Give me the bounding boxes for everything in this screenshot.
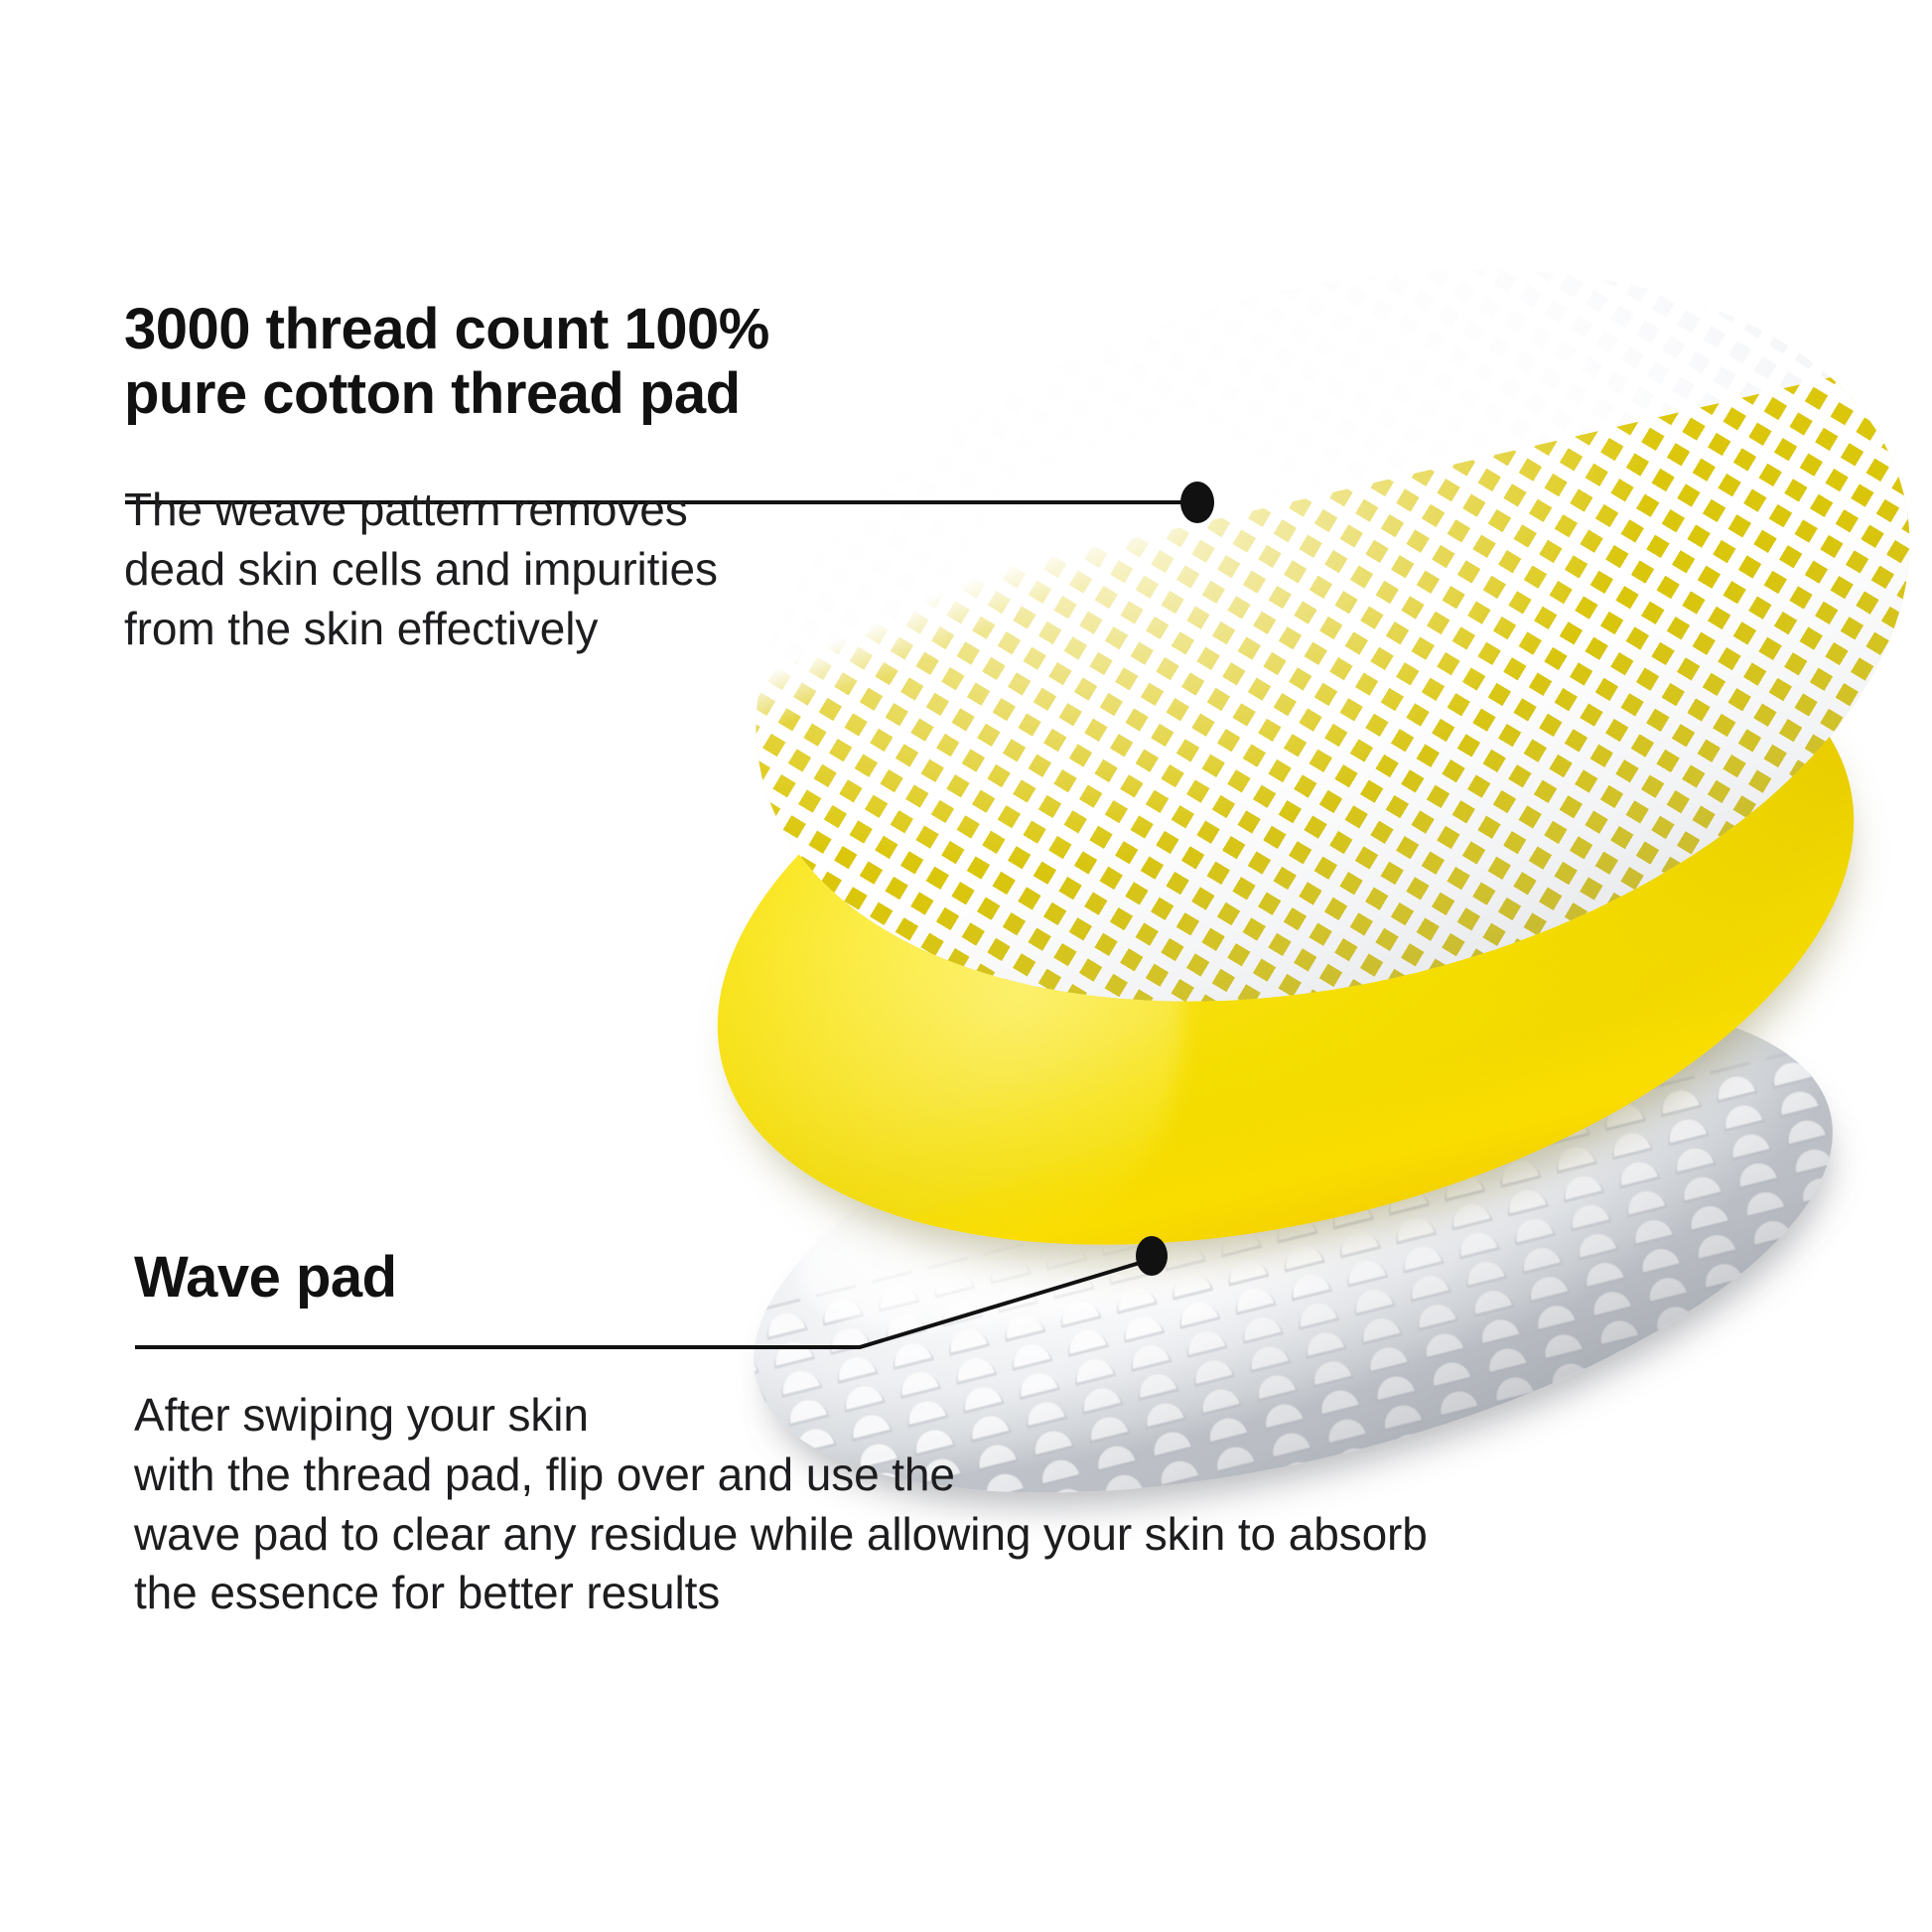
thread-pad-heading-line-2: pure cotton thread pad [124,362,998,427]
wave-pad-body-line-3: wave pad to clear any residue while allo… [134,1505,1842,1565]
wave-pad-body-line-2: with the thread pad, flip over and use t… [134,1446,1842,1505]
infographic-canvas: 3000 thread count 100% pure cotton threa… [0,0,1932,1932]
thread-pad-body-line-3: from the skin effectively [124,600,998,659]
thread-pad-callout-dot [1180,482,1214,523]
wave-pad-body-line-4: the essence for better results [134,1564,1842,1623]
callout-leader-lines [0,0,1932,1932]
callout-wave-pad: Wave pad After swiping your skin with th… [134,1246,1842,1623]
thread-pad-body: The weave pattern removes dead skin cell… [124,481,998,658]
callout-thread-pad: 3000 thread count 100% pure cotton threa… [124,298,998,658]
thread-pad-body-line-2: dead skin cells and impurities [124,540,998,600]
thread-pad-heading: 3000 thread count 100% pure cotton threa… [124,298,998,427]
thread-pad-body-line-1: The weave pattern removes [124,481,998,540]
thread-pad-heading-line-1: 3000 thread count 100% [124,298,998,362]
wave-pad-heading: Wave pad [134,1246,1842,1311]
wave-pad-body: After swiping your skin with the thread … [134,1386,1842,1623]
wave-pad-body-line-1: After swiping your skin [134,1386,1842,1446]
